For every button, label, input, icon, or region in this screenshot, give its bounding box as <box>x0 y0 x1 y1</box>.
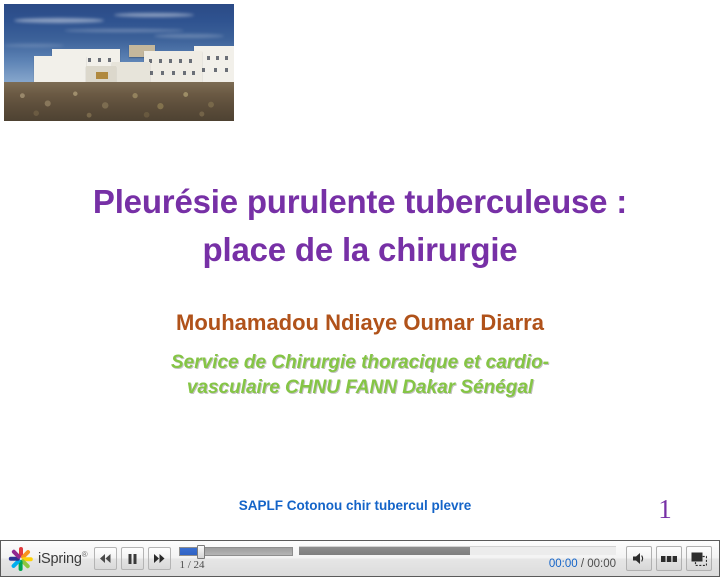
slide-number: 1 <box>645 494 685 525</box>
authors-line: Mouhamadou Ndiaye Oumar Diarra <box>60 309 660 337</box>
slide-seek-thumb[interactable] <box>197 545 205 559</box>
playback-progress-fill <box>299 547 470 555</box>
next-slide-icon <box>154 554 165 563</box>
building <box>34 56 86 82</box>
brand-name: iSpring <box>38 551 82 567</box>
affiliation-block: Service de Chirurgie thoracique et cardi… <box>90 350 630 400</box>
playback-time-label: 00:00 / 00:00 <box>299 558 616 570</box>
cloud <box>114 13 194 17</box>
volume-button[interactable] <box>626 546 652 571</box>
fullscreen-icon <box>691 552 707 566</box>
slide-canvas: Pleurésie purulente tuberculeuse : place… <box>0 0 720 540</box>
playback-progress-control[interactable]: 00:00 / 00:00 <box>299 543 616 575</box>
awning <box>96 72 108 79</box>
playback-progress-track[interactable] <box>299 546 616 555</box>
cloud <box>154 34 224 38</box>
registered-mark: ® <box>82 550 88 559</box>
ispring-presentation-player: Pleurésie purulente tuberculeuse : place… <box>0 0 720 577</box>
cloud <box>64 29 184 32</box>
affiliation-line-1: Service de Chirurgie thoracique et cardi… <box>90 350 630 375</box>
affiliation-line-2: vasculaire CHNU FANN Dakar Sénégal <box>90 375 630 400</box>
slides-panel-icon <box>661 555 677 563</box>
slides-panel-button[interactable] <box>656 546 682 571</box>
player-control-bar: iSpring® 1 / 24 <box>0 540 720 577</box>
rock-texture <box>4 82 234 121</box>
next-slide-button[interactable] <box>148 547 171 570</box>
title-line-1: Pleurésie purulente tuberculeuse : <box>50 178 670 226</box>
cloud <box>14 18 104 23</box>
time-separator: / <box>578 558 588 570</box>
slide-position-label: 1 / 24 <box>179 559 293 571</box>
hospital-building-photo <box>4 4 234 121</box>
previous-slide-icon <box>100 554 111 563</box>
ispring-wordmark: iSpring® <box>38 550 87 567</box>
page-title: Pleurésie purulente tuberculeuse : place… <box>50 178 670 274</box>
ispring-starburst-icon <box>8 546 34 572</box>
building <box>112 62 150 82</box>
building <box>144 51 202 82</box>
slide-seek-control[interactable]: 1 / 24 <box>179 544 293 573</box>
pause-icon <box>128 554 137 564</box>
elapsed-time: 00:00 <box>549 558 578 570</box>
volume-icon <box>632 552 646 565</box>
cloud <box>4 44 64 47</box>
ispring-logo[interactable]: iSpring® <box>8 546 87 572</box>
fullscreen-button[interactable] <box>686 546 712 571</box>
previous-slide-button[interactable] <box>94 547 117 570</box>
title-line-2: place de la chirurgie <box>50 226 670 274</box>
pause-button[interactable] <box>121 547 144 570</box>
slide-footer-note: SAPLF Cotonou chir tubercul plevre <box>140 498 570 513</box>
slide-seek-track[interactable] <box>179 547 293 556</box>
rocky-foreground <box>4 82 234 121</box>
total-duration: 00:00 <box>587 558 616 570</box>
